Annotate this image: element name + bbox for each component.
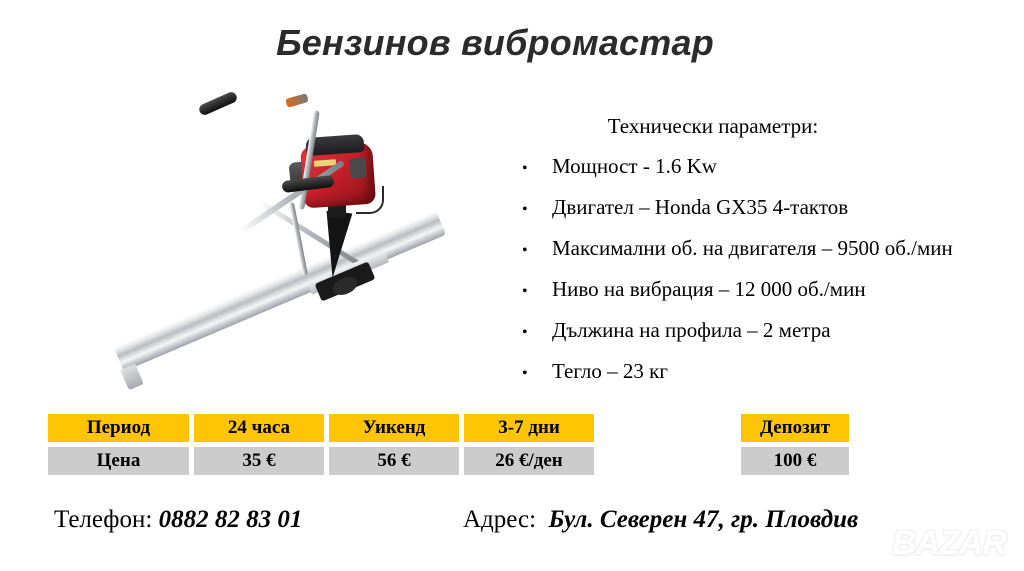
- page-title: Бензинов вибромастар: [0, 22, 990, 64]
- spec-item: • Максимални об. на двигателя – 9500 об.…: [508, 229, 1008, 270]
- contact-phone: Телефон: 0882 82 83 01: [54, 506, 302, 534]
- table-header-cell: 24 часа: [194, 414, 324, 442]
- table-row: Цена 35 € 56 € 26 €/ден: [48, 447, 594, 475]
- table-header-cell: Период: [48, 414, 189, 442]
- bullet-icon: •: [508, 355, 552, 393]
- table-cell: 35 €: [194, 447, 324, 475]
- table-cell: Цена: [48, 447, 189, 475]
- spec-text: Двигател – Honda GX35 4-тактов: [552, 188, 848, 226]
- deposit-table: Депозит 100 €: [741, 414, 849, 475]
- bazar-watermark: BAZAR: [892, 524, 1006, 563]
- address-value: Бул. Северен 47, гр. Пловдив: [549, 506, 859, 533]
- throttle-cable-shape: [356, 186, 384, 214]
- table-header-cell: Уикенд: [329, 414, 459, 442]
- spec-item: • Двигател – Honda GX35 4-тактов: [508, 188, 1008, 229]
- engine-vent-shape: [349, 157, 366, 178]
- table-cell: 56 €: [329, 447, 459, 475]
- spec-item: • Ниво на вибрация – 12 000 об./мин: [508, 270, 1008, 311]
- bullet-icon: •: [508, 232, 552, 270]
- table-header-cell: 3-7 дни: [464, 414, 594, 442]
- spec-text: Дължина на профила – 2 метра: [552, 311, 831, 349]
- deposit-header-cell: Депозит: [741, 414, 849, 442]
- bullet-icon: •: [508, 191, 552, 229]
- spec-item: • Мощност - 1.6 Kw: [508, 147, 1008, 188]
- table-cell: 26 €/ден: [464, 447, 594, 475]
- price-table: Период 24 часа Уикенд 3-7 дни Цена 35 € …: [48, 414, 594, 475]
- table-row-header: Период 24 часа Уикенд 3-7 дни: [48, 414, 594, 442]
- screed-blade-shape: [114, 211, 446, 372]
- spec-item: • Тегло – 23 кг: [508, 352, 1008, 393]
- contact-address: Адрес: Бул. Северен 47, гр. Пловдив: [463, 506, 858, 534]
- deposit-value-cell: 100 €: [741, 447, 849, 475]
- deposit-row: 100 €: [741, 447, 849, 475]
- spec-text: Ниво на вибрация – 12 000 об./мин: [552, 270, 866, 308]
- bullet-icon: •: [508, 273, 552, 311]
- specs-section: Технически параметри: • Мощност - 1.6 Kw…: [508, 114, 1008, 393]
- phone-label: Телефон:: [54, 506, 152, 533]
- blade-tip-shape: [120, 364, 143, 391]
- spec-item: • Дължина на профила – 2 метра: [508, 311, 1008, 352]
- phone-value[interactable]: 0882 82 83 01: [159, 506, 303, 533]
- support-bar-vertical: [289, 202, 308, 276]
- bullet-icon: •: [508, 314, 552, 352]
- deposit-row-header: Депозит: [741, 414, 849, 442]
- spec-text: Максимални об. на двигателя – 9500 об./м…: [552, 229, 953, 267]
- address-label: Адрес:: [463, 506, 536, 533]
- specs-heading: Технически параметри:: [508, 114, 1008, 139]
- spec-text: Мощност - 1.6 Kw: [552, 147, 717, 185]
- bullet-icon: •: [508, 150, 552, 188]
- throttle-lever-shape: [285, 93, 309, 108]
- spec-text: Тегло – 23 кг: [552, 352, 668, 390]
- product-image: [110, 82, 440, 402]
- handle-grip-left: [197, 90, 238, 116]
